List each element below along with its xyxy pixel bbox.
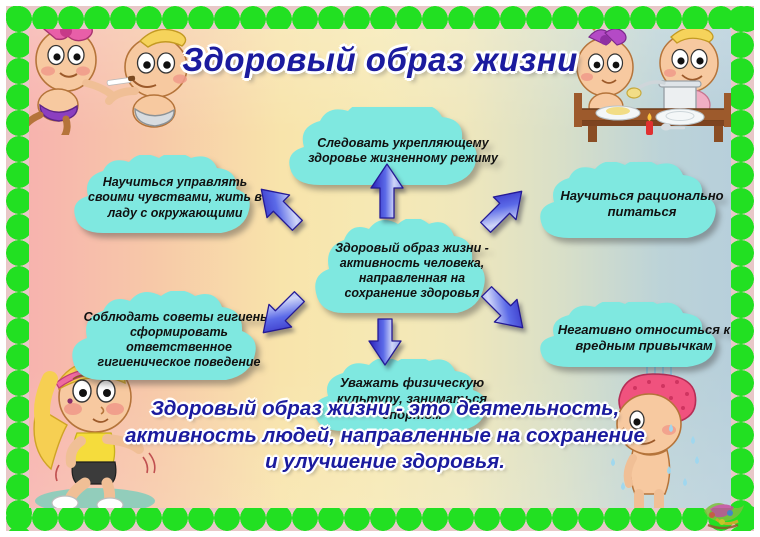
arrow-down-icon xyxy=(367,317,403,367)
green-scallop-right xyxy=(728,6,754,531)
poster-canvas: Здоровый образ жизни xyxy=(29,29,731,508)
cloud-left-top: Научиться управлять своими чувствами, жи… xyxy=(71,155,279,241)
arrow-up-right-icon xyxy=(476,181,532,237)
poster-root: Здоровый образ жизни xyxy=(0,0,760,537)
watermark-logo xyxy=(696,489,750,533)
green-scallop-bottom xyxy=(6,505,754,531)
arrow-down-left-icon xyxy=(253,287,309,343)
cloud-right-top: Научиться рационально питаться xyxy=(537,162,731,246)
bottom-statement: Здоровый образ жизни - это деятельность,… xyxy=(119,396,651,476)
arrow-up-left-icon xyxy=(251,179,307,235)
poster-title: Здоровый образ жизни xyxy=(29,41,731,79)
cloud-text: Негативно относиться к вредным привычкам xyxy=(537,322,731,354)
arrow-up-icon xyxy=(369,162,405,220)
cloud-text: Научиться управлять своими чувствами, жи… xyxy=(71,175,279,221)
cloud-right-bottom: Негативно относиться к вредным привычкам xyxy=(537,302,731,374)
arrow-down-right-icon xyxy=(477,282,533,338)
cloud-text: Научиться рационально питаться xyxy=(537,188,731,220)
